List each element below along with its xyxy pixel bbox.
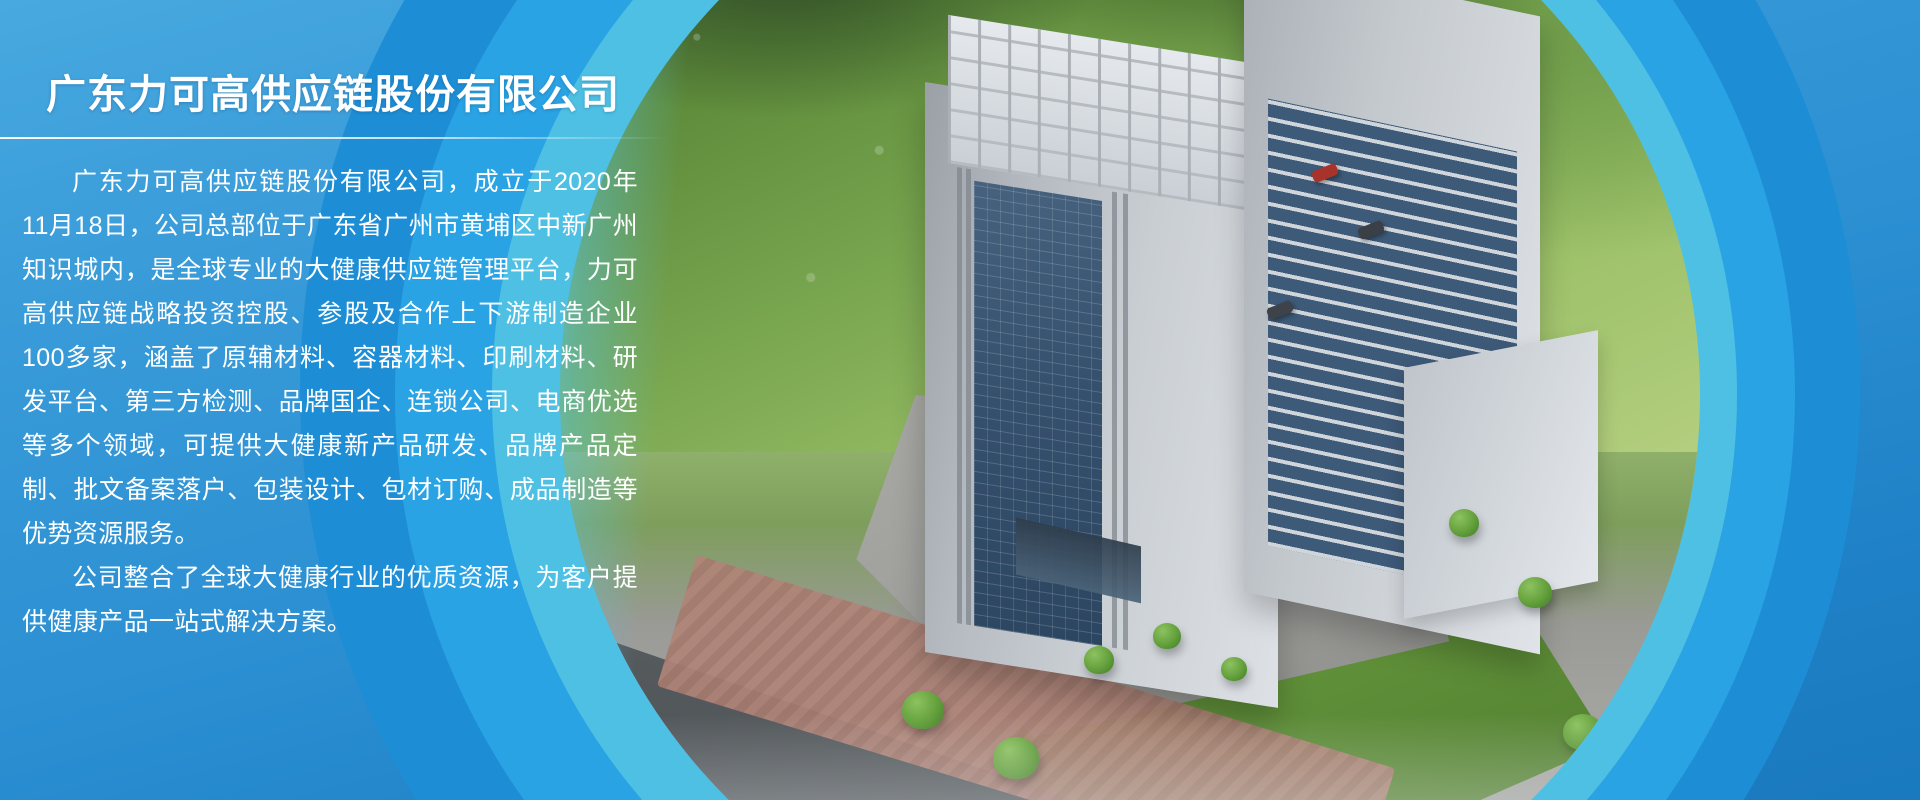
company-profile-banner: 广东力可高供应链股份有限公司 广东力可高供应链股份有限公司，成立于2020年11…: [0, 0, 1920, 800]
photo-edge-blend: [560, 0, 1700, 800]
page-title: 广东力可高供应链股份有限公司: [46, 62, 620, 120]
facility-photo: [560, 0, 1700, 800]
company-description: 广东力可高供应链股份有限公司，成立于2020年11月18日，公司总部位于广东省广…: [22, 160, 638, 644]
title-divider: [0, 137, 668, 139]
paragraph-overview: 广东力可高供应链股份有限公司，成立于2020年11月18日，公司总部位于广东省广…: [22, 160, 638, 556]
paragraph-solution: 公司整合了全球大健康行业的优质资源，为客户提供健康产品一站式解决方案。: [22, 556, 638, 644]
text-panel: 广东力可高供应链股份有限公司 广东力可高供应链股份有限公司，成立于2020年11…: [0, 0, 700, 800]
